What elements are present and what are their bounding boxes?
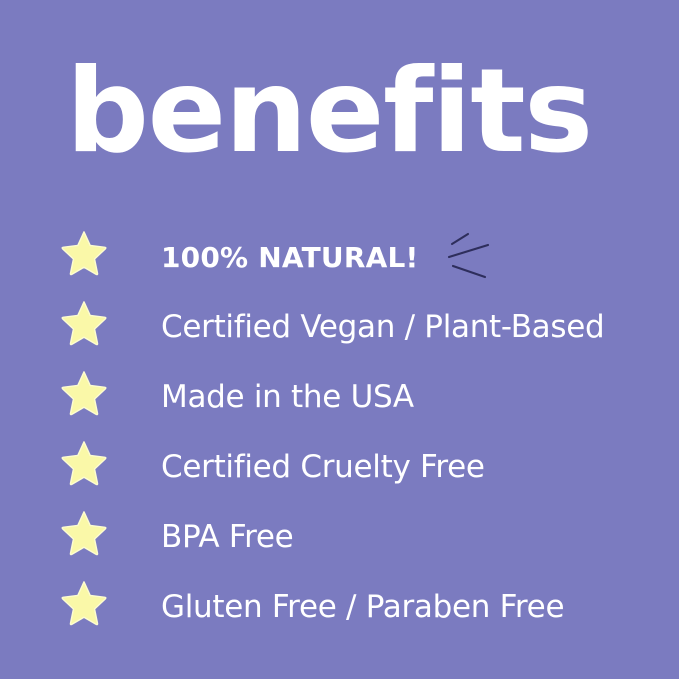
list-item-label: 100% NATURAL! xyxy=(161,222,418,292)
list-item: BPA Free xyxy=(0,502,679,572)
list-item-label: Certified Vegan / Plant-Based xyxy=(161,292,604,362)
benefits-poster: benefits 100% NATURAL! Certified Vegan /… xyxy=(0,0,679,679)
list-item: Certified Vegan / Plant-Based xyxy=(0,292,679,362)
list-item: 100% NATURAL! xyxy=(0,222,679,292)
star-icon xyxy=(61,440,107,486)
list-item-label: Made in the USA xyxy=(161,362,414,432)
star-icon xyxy=(61,230,107,276)
list-item-label: BPA Free xyxy=(161,502,293,572)
star-icon xyxy=(61,300,107,346)
star-icon xyxy=(61,580,107,626)
star-icon xyxy=(61,370,107,416)
benefits-list: 100% NATURAL! Certified Vegan / Plant-Ba… xyxy=(0,222,679,642)
list-item: Certified Cruelty Free xyxy=(0,432,679,502)
star-icon xyxy=(61,510,107,556)
list-item-label: Gluten Free / Paraben Free xyxy=(161,572,564,642)
list-item: Made in the USA xyxy=(0,362,679,432)
emphasis-burst-icon xyxy=(442,222,512,292)
list-item-label: Certified Cruelty Free xyxy=(161,432,485,502)
list-item: Gluten Free / Paraben Free xyxy=(0,572,679,642)
page-title: benefits xyxy=(66,54,592,170)
